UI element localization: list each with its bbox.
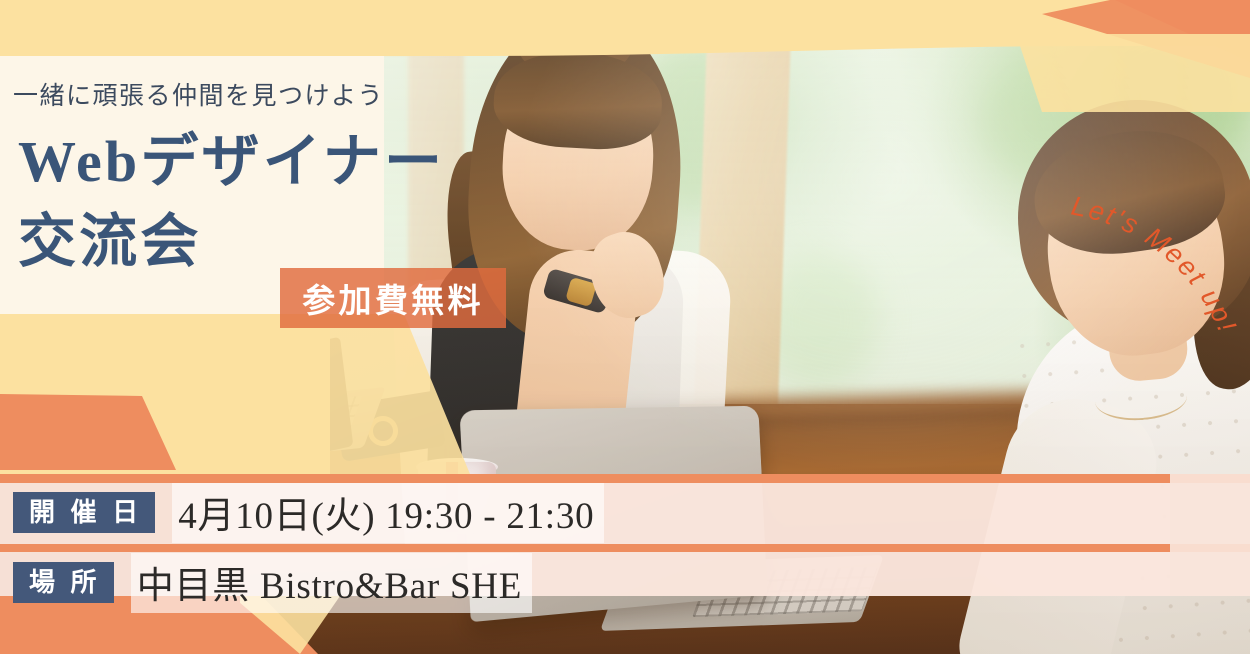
top-right-yellow-shape (1016, 34, 1250, 112)
event-banner: 一緒に頑張る仲間を見つけよう Webデザイナー 交流会 参加費無料 Let's … (0, 0, 1250, 654)
free-admission-badge: 参加費無料 (280, 268, 506, 328)
banner-title: Webデザイナー 交流会 (18, 122, 445, 282)
banner-subtitle: 一緒に頑張る仲間を見つけよう (13, 76, 384, 112)
place-value: 中目黒 Bistro&Bar SHE (131, 553, 532, 613)
place-label-chip: 場 所 (13, 562, 114, 603)
info-divider-middle (0, 544, 1250, 552)
info-row-date: 開 催 日 4月10日(火) 19:30 - 21:30 (13, 489, 604, 536)
date-label-chip: 開 催 日 (13, 492, 155, 533)
info-row-place: 場 所 中目黒 Bistro&Bar SHE (13, 559, 532, 606)
date-value: 4月10日(火) 19:30 - 21:30 (172, 483, 604, 543)
left-yellow-diagonal (330, 314, 470, 474)
info-band-right-edge (1170, 474, 1250, 596)
